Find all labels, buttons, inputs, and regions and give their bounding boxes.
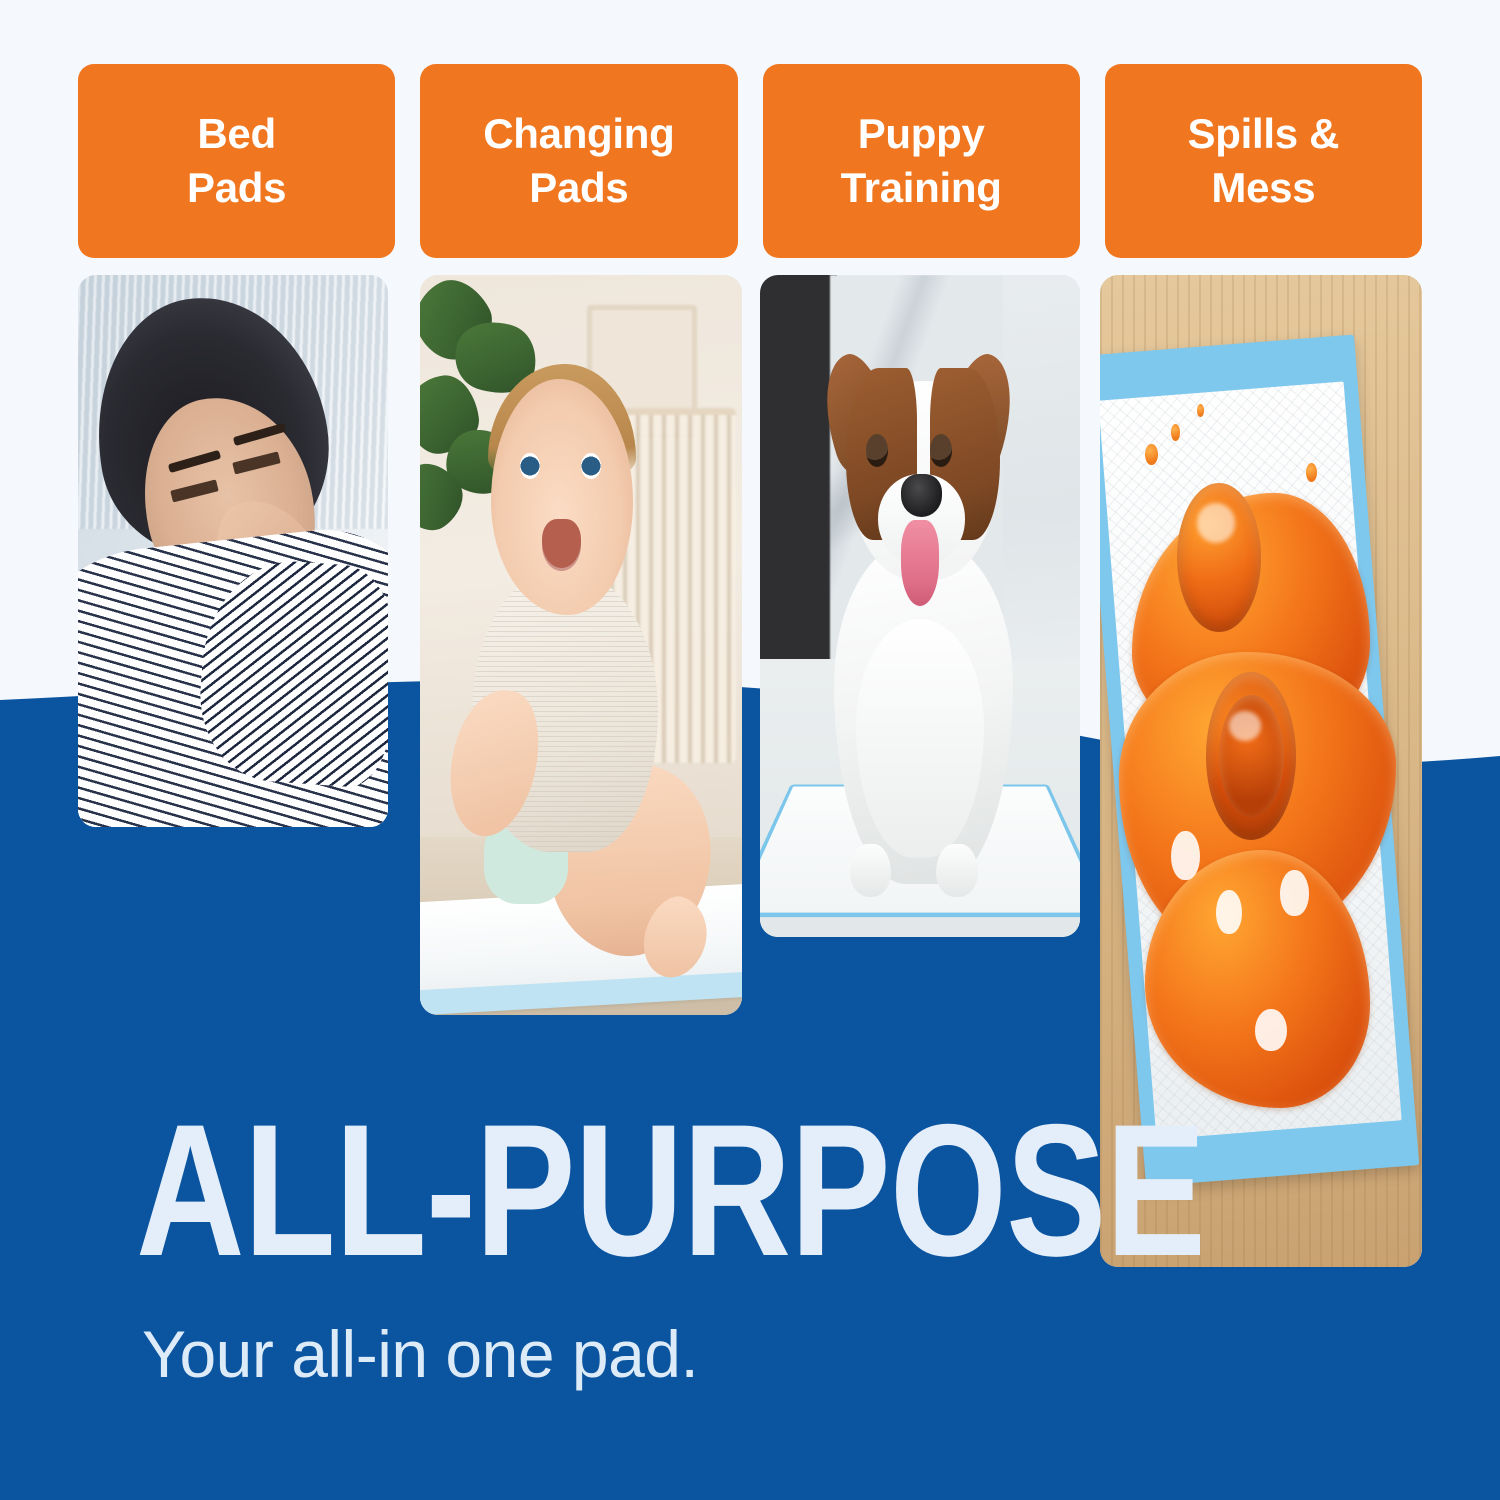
badge-bed-pads[interactable]: Bed Pads [78, 64, 395, 258]
photo-card-bed-pads [78, 275, 388, 827]
photo-card-changing-pads [420, 275, 742, 1015]
category-badge-row: Bed Pads Changing Pads Puppy Training Sp… [78, 64, 1422, 258]
photo-puppy-on-pad [760, 275, 1080, 937]
headline-title: ALL-PURPOSE [136, 1104, 856, 1277]
headline-subtitle: Your all-in one pad. [142, 1316, 698, 1392]
badge-changing-pads[interactable]: Changing Pads [420, 64, 737, 258]
badge-spills-mess[interactable]: Spills & Mess [1105, 64, 1422, 258]
infographic-canvas: Bed Pads Changing Pads Puppy Training Sp… [0, 0, 1500, 1500]
photo-card-puppy-training [760, 275, 1080, 937]
badge-puppy-training[interactable]: Puppy Training [763, 64, 1080, 258]
photo-baby-on-pad [420, 275, 742, 1015]
photo-woman-sleeping [78, 275, 388, 827]
